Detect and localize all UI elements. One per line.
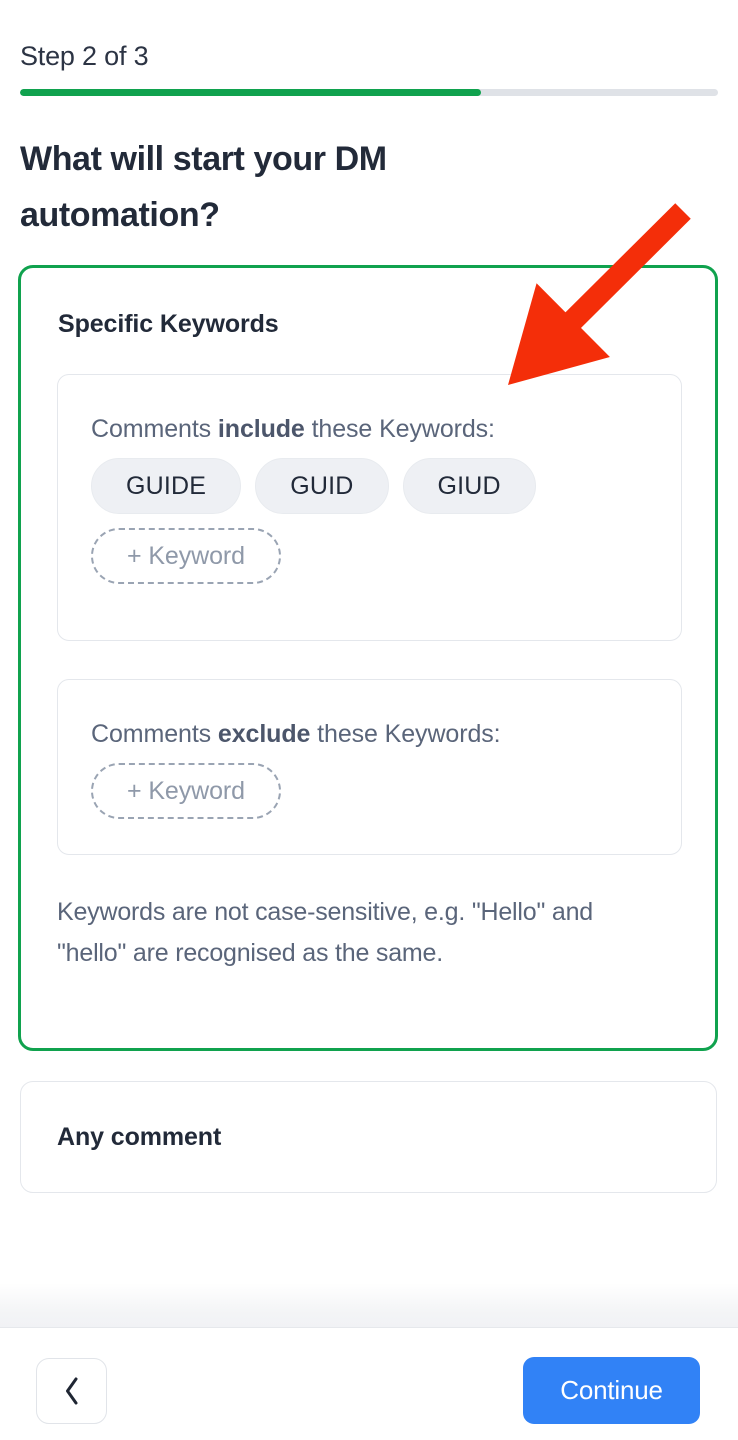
keywords-exclude-chip-list: + Keyword	[91, 763, 661, 819]
option-title-any-comment: Any comment	[57, 1123, 221, 1152]
keywords-include-label: Comments include these Keywords:	[91, 415, 495, 444]
case-sensitivity-hint: Keywords are not case-sensitive, e.g. "H…	[57, 892, 657, 974]
scroll-fade-overlay	[0, 1283, 738, 1327]
keyword-chip[interactable]: GUIDE	[91, 458, 241, 514]
step-indicator-label: Step 2 of 3	[20, 41, 148, 72]
keyword-chip[interactable]: GUID	[255, 458, 388, 514]
progress-bar-track	[20, 89, 718, 96]
back-button[interactable]	[36, 1358, 107, 1424]
page-title: What will start your DM automation?	[20, 131, 540, 243]
keywords-exclude-label: Comments exclude these Keywords:	[91, 720, 501, 749]
keywords-include-panel: Comments include these Keywords: GUIDEGU…	[57, 374, 682, 641]
add-keyword-button[interactable]: + Keyword	[91, 763, 281, 819]
continue-button[interactable]: Continue	[523, 1357, 700, 1424]
dm-automation-trigger-step: Step 2 of 3 What will start your DM auto…	[0, 0, 738, 1440]
add-keyword-button[interactable]: + Keyword	[91, 528, 281, 584]
keyword-chip[interactable]: GIUD	[403, 458, 536, 514]
include-label-emphasis: include	[218, 415, 305, 443]
include-label-prefix: Comments	[91, 415, 218, 443]
option-title-specific-keywords: Specific Keywords	[58, 310, 279, 339]
keywords-exclude-panel: Comments exclude these Keywords: + Keywo…	[57, 679, 682, 855]
chevron-left-icon	[63, 1376, 81, 1406]
exclude-label-emphasis: exclude	[218, 720, 310, 748]
footer-divider	[0, 1327, 738, 1328]
progress-bar-fill	[20, 89, 481, 96]
include-label-suffix: these Keywords:	[305, 415, 495, 443]
exclude-label-suffix: these Keywords:	[310, 720, 500, 748]
keywords-include-chip-list: GUIDEGUIDGIUD+ Keyword	[91, 458, 661, 584]
option-card-specific-keywords[interactable]: Specific Keywords Comments include these…	[18, 265, 718, 1051]
option-card-any-comment[interactable]: Any comment	[20, 1081, 717, 1193]
exclude-label-prefix: Comments	[91, 720, 218, 748]
